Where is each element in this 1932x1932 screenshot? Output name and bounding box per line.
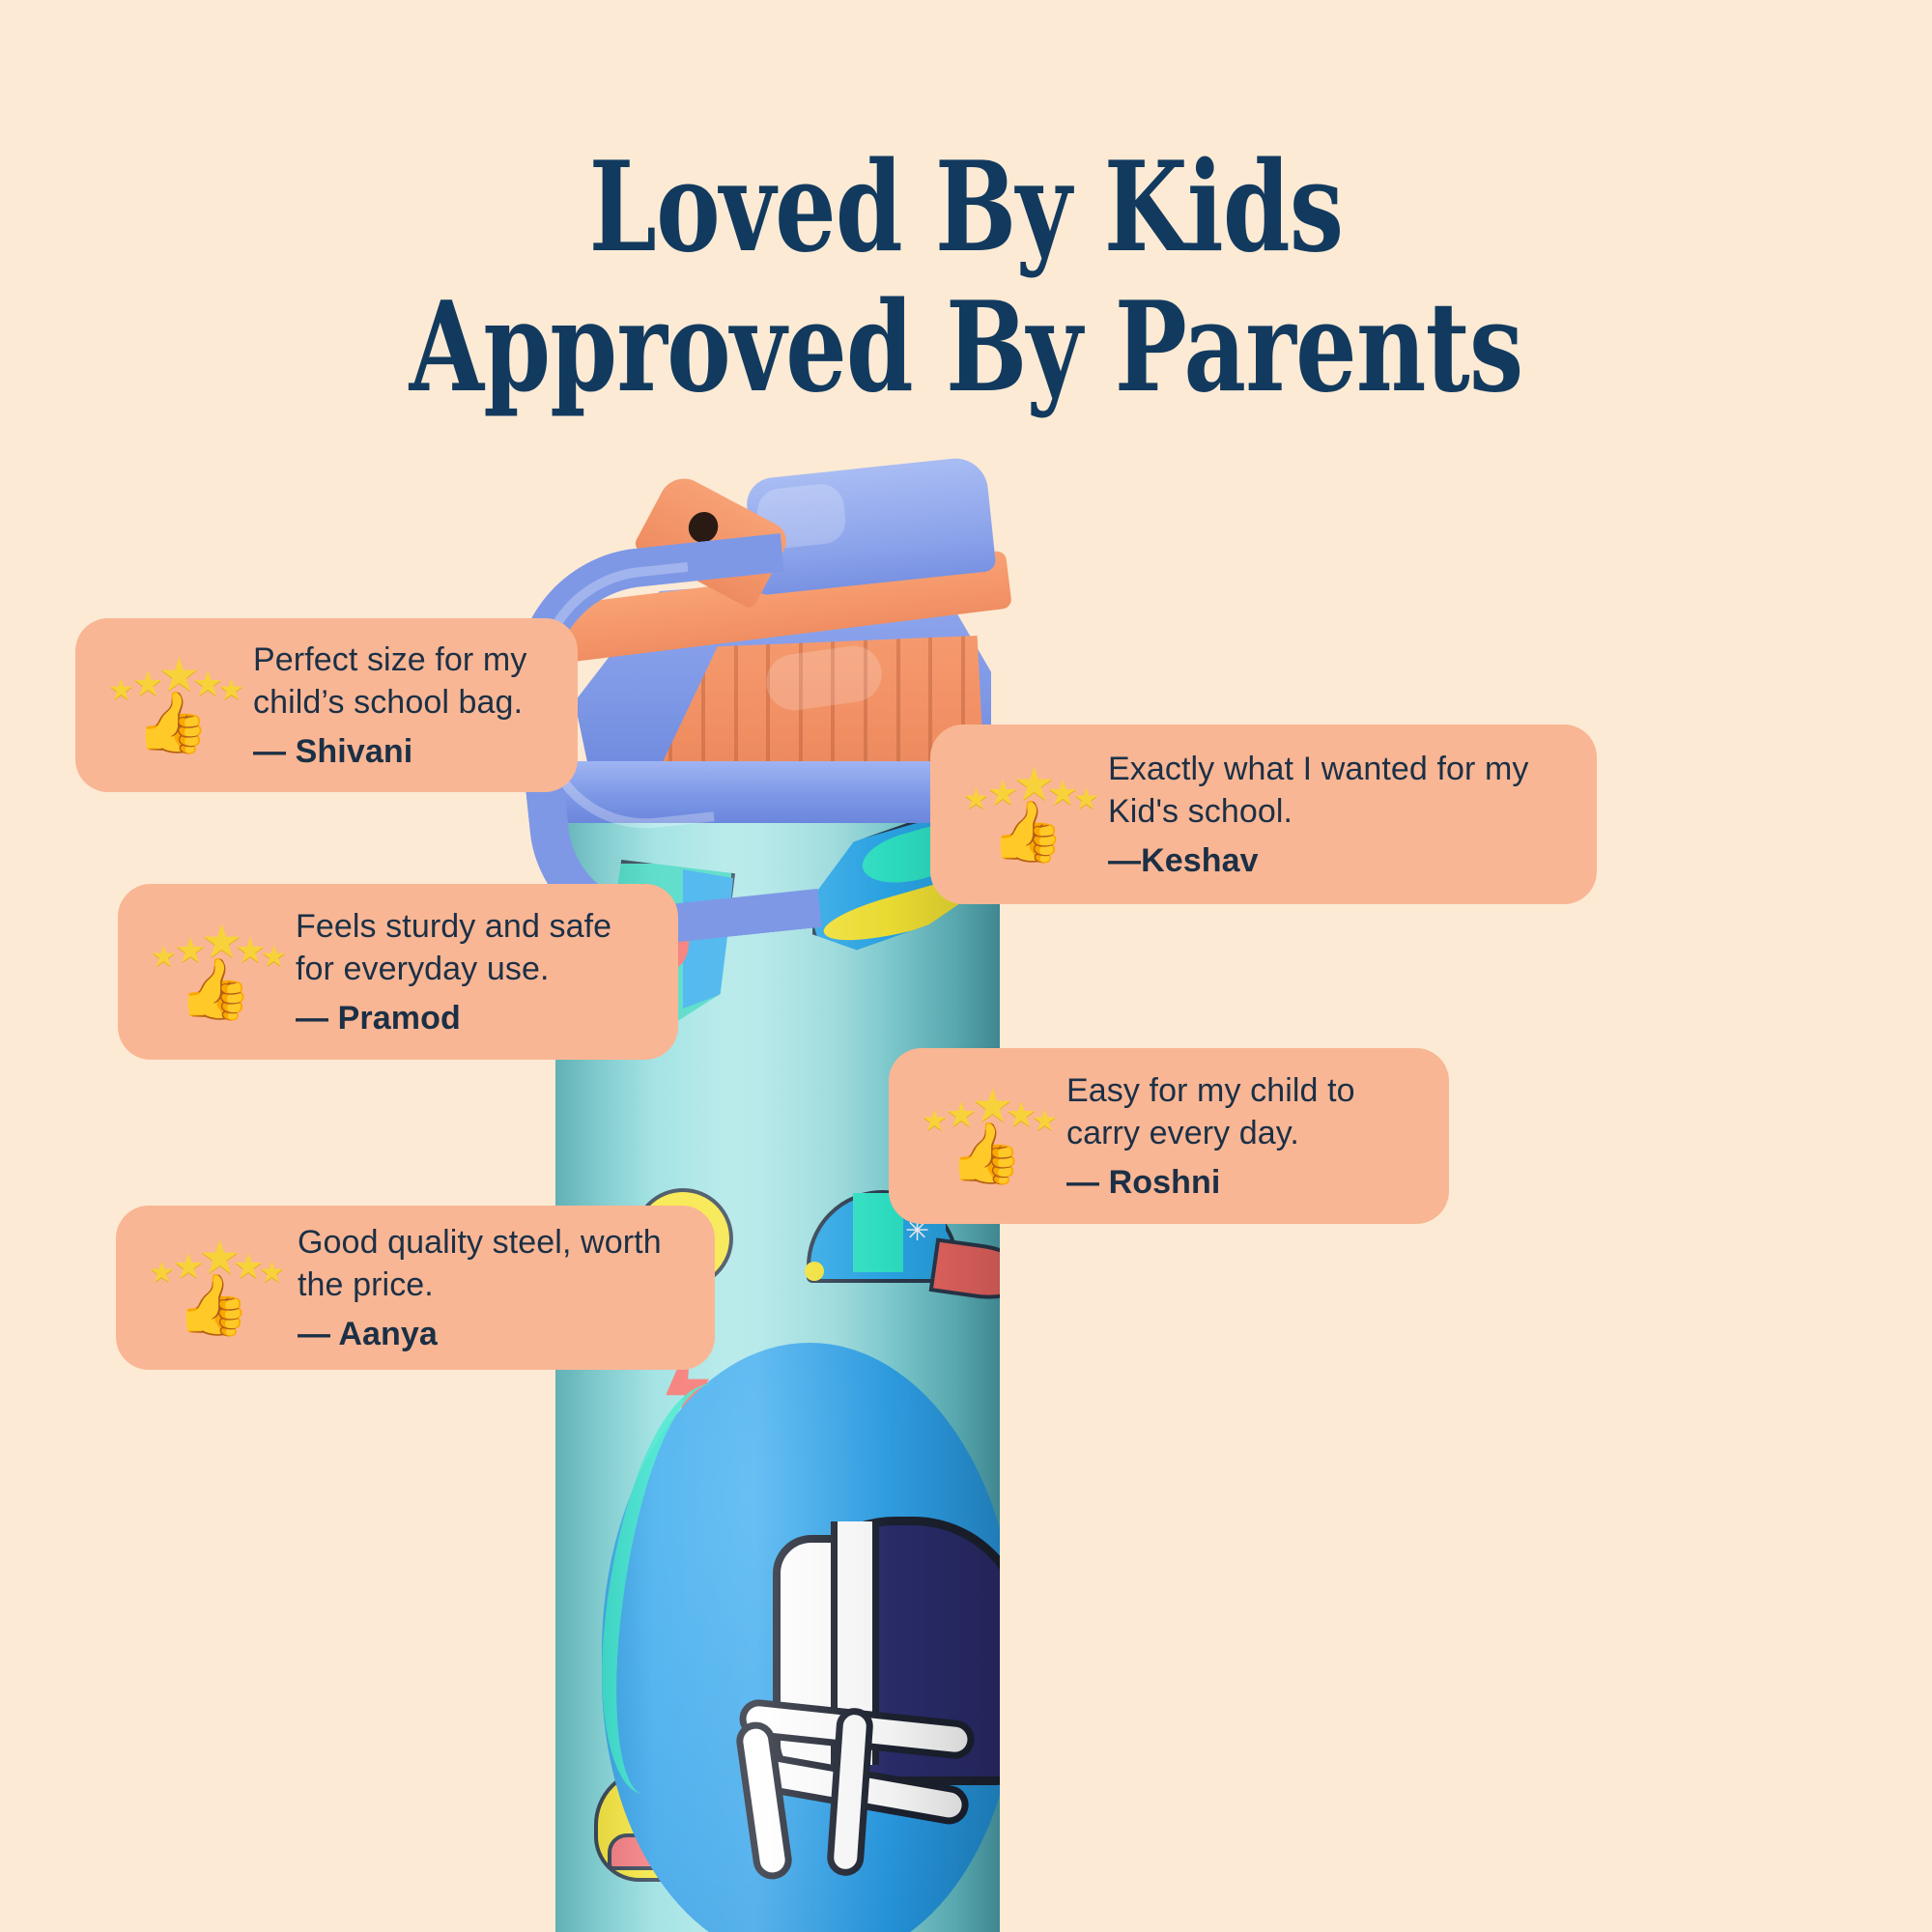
- testimonial-quote: Good quality steel, worth the price.: [298, 1222, 682, 1306]
- promo-banner: Loved By Kids Approved By Parents 9: [0, 0, 1932, 1932]
- testimonial-quote: Perfect size for my child’s school bag.: [253, 639, 545, 724]
- testimonial-card-roshni[interactable]: ★ ★ ★ ★ ★ 👍 Easy for my child to carry e…: [889, 1048, 1449, 1224]
- thumbs-up-icon: 👍: [990, 803, 1065, 863]
- rating-badge: ★ ★ ★ ★ ★ 👍: [149, 1237, 276, 1338]
- testimonial-quote: Exactly what I wanted for my Kid's schoo…: [1108, 749, 1564, 833]
- testimonial-text: Easy for my child to carry every day. — …: [1066, 1070, 1416, 1202]
- star-icon: ★: [151, 943, 177, 972]
- testimonial-card-pramod[interactable]: ★ ★ ★ ★ ★ 👍 Feels sturdy and safe for ev…: [118, 884, 678, 1060]
- testimonial-quote: Easy for my child to carry every day.: [1066, 1070, 1416, 1154]
- testimonial-author: — Aanya: [298, 1316, 682, 1353]
- thumbs-up-icon: 👍: [178, 960, 252, 1020]
- testimonial-text: Perfect size for my child’s school bag. …: [253, 639, 545, 771]
- testimonial-card-keshav[interactable]: ★ ★ ★ ★ ★ 👍 Exactly what I wanted for my…: [930, 724, 1597, 904]
- star-icon: ★: [963, 785, 989, 814]
- testimonial-text: Good quality steel, worth the price. — A…: [298, 1222, 682, 1353]
- testimonial-quote: Feels sturdy and safe for everyday use.: [296, 906, 645, 990]
- testimonial-author: — Pramod: [296, 1000, 645, 1037]
- star-icon: ★: [108, 676, 134, 705]
- helmet-facemask: [739, 1700, 961, 1884]
- star-icon: ★: [261, 943, 287, 972]
- testimonial-author: — Roshni: [1066, 1164, 1416, 1202]
- testimonial-author: —Keshav: [1108, 842, 1564, 880]
- football-helmet-graphic: [729, 1517, 1000, 1922]
- testimonial-text: Exactly what I wanted for my Kid's schoo…: [1108, 749, 1564, 880]
- thumbs-up-icon: 👍: [176, 1276, 250, 1336]
- thumbs-up-icon: 👍: [135, 694, 210, 753]
- cap-brim: [929, 1237, 1000, 1304]
- rating-badge: ★ ★ ★ ★ ★ 👍: [151, 922, 278, 1022]
- testimonial-card-shivani[interactable]: ★ ★ ★ ★ ★ 👍 Perfect size for my child’s …: [75, 618, 578, 792]
- star-icon: ★: [218, 676, 244, 705]
- star-icon: ★: [922, 1107, 948, 1136]
- star-icon: ★: [149, 1259, 175, 1288]
- facemask-bar: [734, 1719, 794, 1882]
- headline-line-2: Approved By Parents: [213, 285, 1719, 412]
- star-icon: ★: [259, 1259, 285, 1288]
- page-title: Loved By Kids Approved By Parents: [213, 145, 1719, 411]
- testimonial-author: — Shivani: [253, 733, 545, 771]
- rating-badge: ★ ★ ★ ★ ★ 👍: [108, 655, 236, 755]
- thumbs-up-icon: 👍: [949, 1124, 1023, 1184]
- testimonial-card-aanya[interactable]: ★ ★ ★ ★ ★ 👍 Good quality steel, worth th…: [116, 1206, 715, 1370]
- cap-button: [805, 1262, 824, 1281]
- star-icon: ★: [1032, 1107, 1058, 1136]
- rating-badge: ★ ★ ★ ★ ★ 👍: [922, 1086, 1049, 1186]
- headline-line-1: Loved By Kids: [589, 135, 1344, 280]
- rating-badge: ★ ★ ★ ★ ★ 👍: [963, 764, 1091, 865]
- star-icon: ★: [1073, 785, 1099, 814]
- testimonial-text: Feels sturdy and safe for everyday use. …: [296, 906, 645, 1037]
